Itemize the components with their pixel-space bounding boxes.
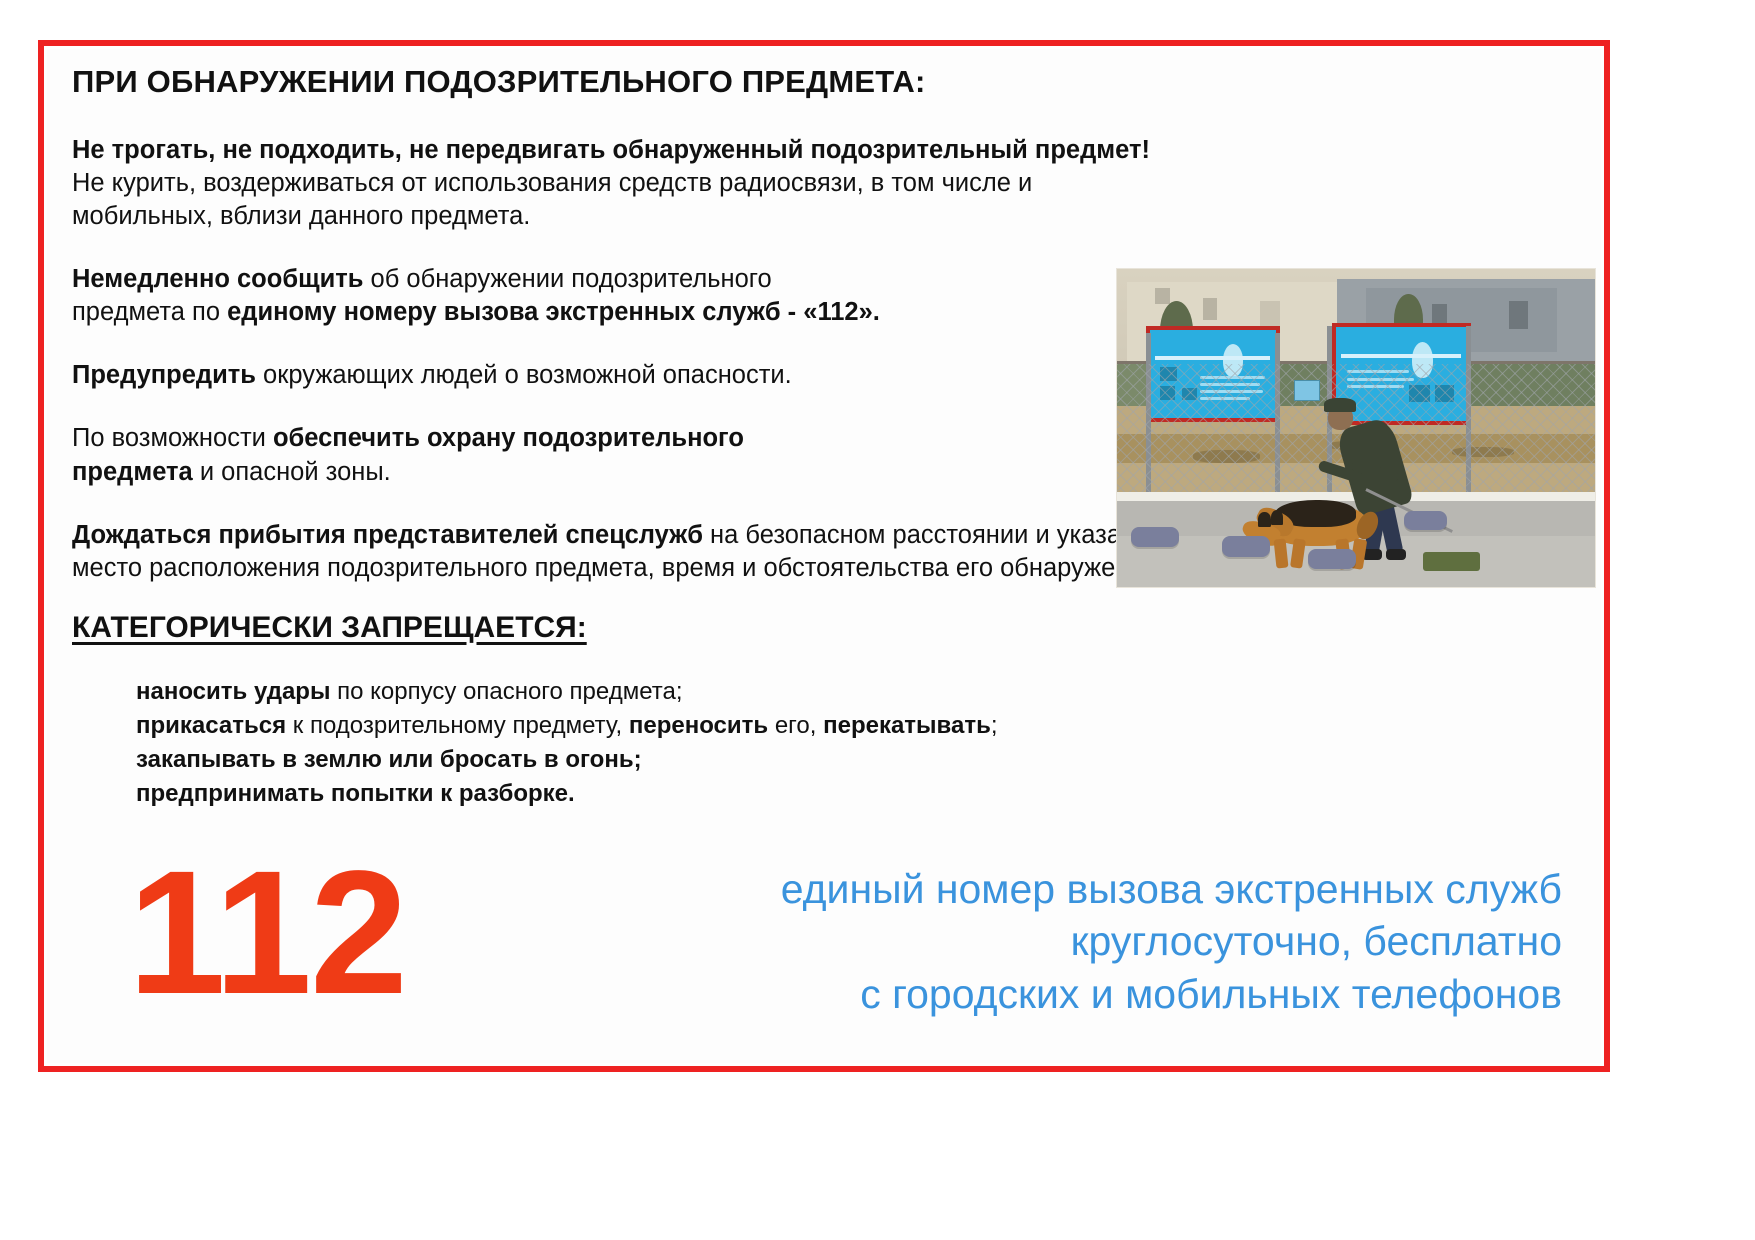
emergency-line: круглосуточно, бесплатно (502, 915, 1562, 967)
instruction-line: об обнаружении подозрительного (371, 265, 772, 293)
instruction-line-bold: единому номеру вызова экстренных служб -… (227, 298, 880, 326)
photo-window (1155, 288, 1169, 304)
photo-window (1203, 298, 1217, 320)
photo-search-bag (1131, 527, 1179, 548)
photo-board-stripe (1341, 354, 1461, 358)
instruction-line-bold: Немедленно сообщить (72, 265, 371, 293)
prohibited-item-bold: прикасаться (136, 712, 293, 739)
photo-window (1260, 301, 1279, 326)
photo-small-sign (1294, 380, 1320, 401)
prohibited-item-bold: закапывать в землю или бросать в огонь; (136, 746, 642, 773)
photo-handler-cap (1324, 398, 1356, 413)
photo-dog-ear (1271, 510, 1283, 525)
prohibited-item-bold: предпринимать попытки к разборке. (136, 780, 575, 807)
instruction-line-bold: Дождаться прибытия представителей спецсл… (72, 521, 710, 549)
photo-search-box (1423, 552, 1480, 571)
photo-search-bag (1404, 511, 1447, 530)
instruction-do-not-touch: Не трогать, не подходить, не передвигать… (72, 134, 1572, 233)
emergency-line: единый номер вызова экстренных служб (502, 863, 1562, 915)
prohibited-item-bold: перекатывать (823, 712, 991, 739)
prohibited-item-text: к подозрительному предмету, (293, 712, 629, 739)
instruction-line: на безопасном расстоянии и указать (710, 521, 1145, 549)
list-item: закапывать в землю или бросать в огонь; (136, 743, 1572, 777)
instruction-line-bold: обеспечить охрану подозрительного (273, 424, 744, 452)
prohibited-item-text: ; (991, 712, 998, 739)
instruction-line-bold: Предупредить (72, 361, 263, 389)
prohibited-item-text: его, (775, 712, 823, 739)
instruction-line-bold: Не трогать, не подходить, не передвигать… (72, 136, 1150, 164)
instruction-line: По возможности (72, 424, 273, 452)
instruction-line: место расположения подозрительного предм… (72, 554, 1165, 582)
instruction-line: мобильных, вблизи данного предмета. (72, 202, 530, 230)
photo-search-bag (1222, 536, 1270, 557)
prohibited-list: наносить удары по корпусу опасного предм… (136, 675, 1572, 811)
page-title: ПРИ ОБНАРУЖЕНИИ ПОДОЗРИТЕЛЬНОГО ПРЕДМЕТА… (72, 64, 1572, 100)
instruction-line: Не курить, воздерживаться от использован… (72, 169, 1032, 197)
prohibited-item-bold: переносить (629, 712, 775, 739)
emergency-number-112: 112 (128, 845, 406, 1021)
photo-handler-boot (1386, 549, 1406, 560)
safety-poster: ПРИ ОБНАРУЖЕНИИ ПОДОЗРИТЕЛЬНОГО ПРЕДМЕТА… (0, 0, 1755, 1240)
list-item: предпринимать попытки к разборке. (136, 777, 1572, 811)
prohibited-heading: КАТЕГОРИЧЕСКИ ЗАПРЕЩАЕТСЯ: (72, 611, 1572, 645)
emergency-line: с городских и мобильных телефонов (502, 968, 1562, 1020)
photo-search-bag (1308, 549, 1356, 570)
poster-red-frame: ПРИ ОБНАРУЖЕНИИ ПОДОЗРИТЕЛЬНОГО ПРЕДМЕТА… (38, 40, 1610, 1072)
photo-board-stripe (1155, 356, 1271, 359)
instruction-line: окружающих людей о возможной опасности. (263, 361, 792, 389)
prohibited-item-bold: наносить удары (136, 678, 337, 705)
instruction-line-bold: предмета (72, 458, 193, 486)
instruction-line: и опасной зоны. (193, 458, 391, 486)
emergency-description: единый номер вызова экстренных служб кру… (502, 863, 1562, 1020)
photo-window (1509, 301, 1528, 330)
list-item: наносить удары по корпусу опасного предм… (136, 675, 1572, 709)
emergency-number-block: 112 единый номер вызова экстренных служб… (72, 851, 1582, 1051)
instruction-line: предмета по (72, 298, 227, 326)
list-item: прикасаться к подозрительному предмету, … (136, 709, 1572, 743)
training-dog-photo (1116, 268, 1596, 588)
photo-dog-ear (1258, 512, 1270, 527)
prohibited-item-text: по корпусу опасного предмета; (337, 678, 682, 705)
